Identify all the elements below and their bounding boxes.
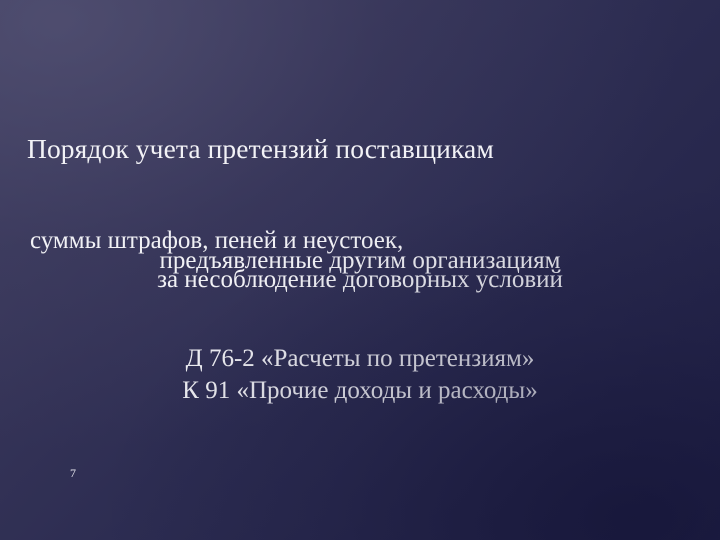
slide-number: 7 bbox=[70, 466, 76, 480]
accounting-entry-block: Д 76-2 «Расчеты по претензиям» К 91 «Про… bbox=[24, 343, 696, 407]
body-line-3: за несоблюдение договорных условий bbox=[24, 270, 696, 290]
slide-title: Порядок учета претензий поставщикам bbox=[27, 132, 687, 166]
presentation-slide: Порядок учета претензий поставщикам сумм… bbox=[0, 0, 720, 540]
slide-body-text: суммы штрафов, пеней и неустоек, предъяв… bbox=[24, 231, 696, 290]
debit-account-line: Д 76-2 «Расчеты по претензиям» bbox=[24, 343, 696, 375]
credit-account-line: К 91 «Прочие доходы и расходы» bbox=[24, 375, 696, 407]
